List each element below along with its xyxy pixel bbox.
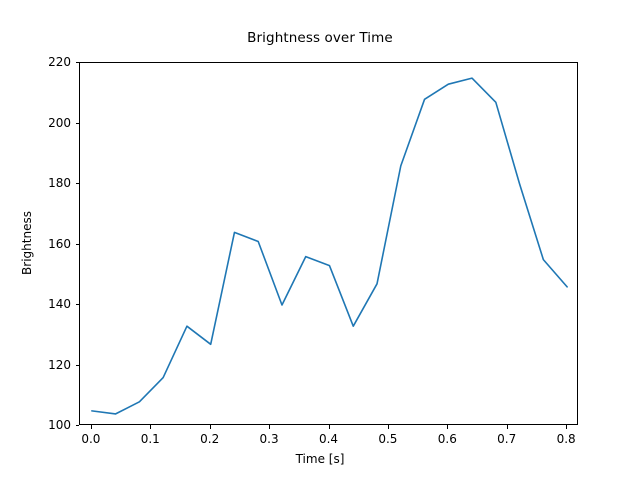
x-tick-label: 0.2 (185, 432, 235, 446)
y-tick-label: 220 (31, 55, 71, 69)
y-tick-mark (76, 183, 80, 184)
line-series-svg (80, 63, 579, 426)
x-tick-label: 0.7 (482, 432, 532, 446)
x-tick-mark (210, 425, 211, 429)
brightness-line (92, 78, 567, 414)
x-tick-label: 0.4 (304, 432, 354, 446)
x-tick-label: 0.5 (363, 432, 413, 446)
y-tick-label: 120 (31, 358, 71, 372)
x-tick-label: 0.6 (422, 432, 472, 446)
x-tick-mark (269, 425, 270, 429)
y-tick-mark (76, 304, 80, 305)
x-axis-label: Time [s] (0, 452, 640, 466)
x-tick-mark (91, 425, 92, 429)
y-tick-mark (76, 365, 80, 366)
y-tick-mark (76, 244, 80, 245)
x-tick-mark (329, 425, 330, 429)
x-tick-mark (150, 425, 151, 429)
x-tick-mark (507, 425, 508, 429)
chart-title: Brightness over Time (0, 30, 640, 46)
y-tick-mark (76, 123, 80, 124)
y-tick-label: 160 (31, 237, 71, 251)
y-tick-label: 100 (31, 418, 71, 432)
x-tick-label: 0.3 (244, 432, 294, 446)
x-tick-mark (566, 425, 567, 429)
x-tick-label: 0.0 (66, 432, 116, 446)
x-tick-mark (388, 425, 389, 429)
y-tick-mark (76, 62, 80, 63)
chart-figure: Brightness over Time Brightness Time [s]… (0, 0, 640, 480)
y-tick-mark (76, 425, 80, 426)
y-tick-label: 200 (31, 116, 71, 130)
x-tick-label: 0.8 (541, 432, 591, 446)
y-tick-label: 180 (31, 176, 71, 190)
x-tick-mark (447, 425, 448, 429)
x-tick-label: 0.1 (125, 432, 175, 446)
plot-area (79, 62, 578, 425)
y-tick-label: 140 (31, 297, 71, 311)
